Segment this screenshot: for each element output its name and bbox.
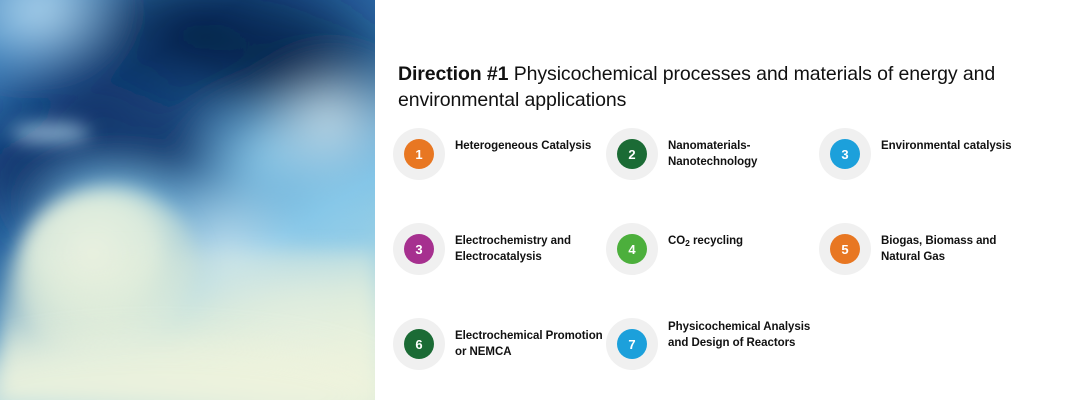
number-badge-ring: 1 (393, 128, 445, 180)
number-badge-ring: 3 (393, 223, 445, 275)
list-item[interactable]: 1 Heterogeneous Catalysis (393, 128, 606, 223)
list-item-label: Environmental catalysis (881, 128, 1032, 154)
list-item[interactable]: 3 Environmental catalysis (819, 128, 1032, 223)
list-item[interactable]: 2 Nanomaterials-Nanotechnology (606, 128, 819, 223)
list-item[interactable]: 6 Electrochemical Promotion or NEMCA (393, 318, 606, 413)
number-badge: 5 (830, 234, 860, 264)
list-item-label: CO2 recycling (668, 223, 819, 249)
number-badge-ring: 7 (606, 318, 658, 370)
slide-root: Direction #1 Physicochemical processes a… (0, 0, 1080, 400)
research-topics-grid: 1 Heterogeneous Catalysis 2 Nanomaterial… (393, 128, 1053, 413)
list-item-label: Biogas, Biomass and Natural Gas (881, 223, 1032, 266)
number-badge: 4 (617, 234, 647, 264)
list-item-label: Heterogeneous Catalysis (455, 128, 606, 154)
number-badge-ring: 3 (819, 128, 871, 180)
list-item[interactable]: 3 Electrochemistry and Electrocatalysis (393, 223, 606, 318)
list-item-label: Electrochemistry and Electrocatalysis (455, 223, 606, 266)
list-item-label: Electrochemical Promotion or NEMCA (455, 318, 606, 361)
number-badge-ring: 2 (606, 128, 658, 180)
number-badge: 6 (404, 329, 434, 359)
number-badge-ring: 5 (819, 223, 871, 275)
list-item-placeholder (819, 318, 1032, 413)
page-title: Direction #1 Physicochemical processes a… (398, 62, 1038, 114)
number-badge: 3 (404, 234, 434, 264)
number-badge: 7 (617, 329, 647, 359)
decorative-image-panel (0, 0, 375, 400)
list-item[interactable]: 4 CO2 recycling (606, 223, 819, 318)
content-panel: Direction #1 Physicochemical processes a… (375, 0, 1080, 400)
number-badge: 3 (830, 139, 860, 169)
number-badge-ring: 6 (393, 318, 445, 370)
number-badge: 2 (617, 139, 647, 169)
blurred-bokeh-image (0, 0, 375, 400)
number-badge: 1 (404, 139, 434, 169)
list-item-label: Physicochemical Analysis and Design of R… (668, 318, 819, 352)
list-item[interactable]: 7 Physicochemical Analysis and Design of… (606, 318, 819, 413)
title-direction-label: Direction #1 (398, 63, 508, 85)
number-badge-ring: 4 (606, 223, 658, 275)
list-item[interactable]: 5 Biogas, Biomass and Natural Gas (819, 223, 1032, 318)
list-item-label: Nanomaterials-Nanotechnology (668, 128, 819, 171)
